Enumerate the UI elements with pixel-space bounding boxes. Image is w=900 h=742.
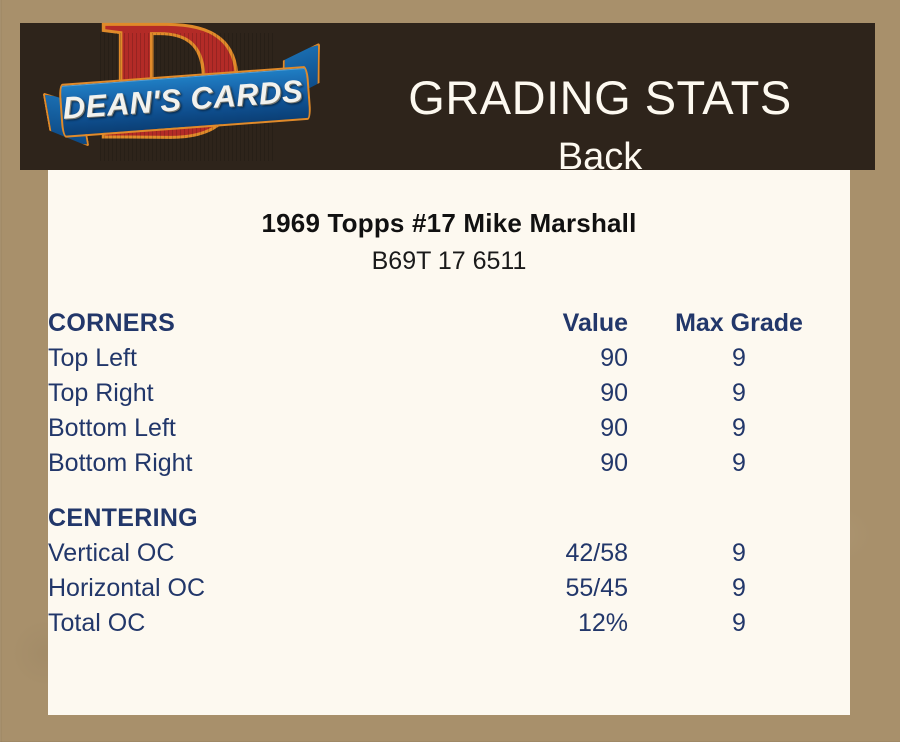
column-header-value: Value xyxy=(478,306,628,341)
row-label: Top Right xyxy=(48,376,478,411)
table-row: Bottom Right909 xyxy=(48,446,850,481)
row-label: Top Left xyxy=(48,341,478,376)
row-max-grade: 9 xyxy=(628,376,850,411)
row-label: Total OC xyxy=(48,606,478,641)
row-value: 12% xyxy=(478,606,628,641)
column-header-value xyxy=(478,501,628,536)
row-label: Bottom Left xyxy=(48,411,478,446)
row-value: 90 xyxy=(478,341,628,376)
logo-ribbon: DEAN'S CARDS xyxy=(50,63,316,140)
table-row: Top Right909 xyxy=(48,376,850,411)
page-title: GRADING STATS xyxy=(320,71,880,125)
section-spacer-cell xyxy=(48,481,850,501)
row-max-grade: 9 xyxy=(628,341,850,376)
grading-stats-body: CORNERSValueMax GradeTop Left909Top Righ… xyxy=(48,306,850,641)
deans-cards-logo[interactable]: D DEAN'S CARDS xyxy=(50,31,315,163)
row-value: 42/58 xyxy=(478,536,628,571)
section-spacer xyxy=(48,481,850,501)
grading-stats-table: CORNERSValueMax GradeTop Left909Top Righ… xyxy=(48,306,850,641)
table-row: Vertical OC42/589 xyxy=(48,536,850,571)
content-panel: 1969 Topps #17 Mike Marshall B69T 17 651… xyxy=(48,170,850,715)
row-max-grade: 9 xyxy=(628,606,850,641)
row-label: Horizontal OC xyxy=(48,571,478,606)
section-header-row: CORNERSValueMax Grade xyxy=(48,306,850,341)
column-header-max-grade xyxy=(628,501,850,536)
table-row: Bottom Left909 xyxy=(48,411,850,446)
row-max-grade: 9 xyxy=(628,411,850,446)
row-max-grade: 9 xyxy=(628,571,850,606)
logo-wordmark: DEAN'S CARDS xyxy=(50,63,315,136)
row-value: 90 xyxy=(478,411,628,446)
header-bar: D DEAN'S CARDS GRADING STATS Back xyxy=(20,23,875,170)
section-title: CORNERS xyxy=(48,306,478,341)
row-value: 90 xyxy=(478,446,628,481)
card-code: B69T 17 6511 xyxy=(48,247,850,276)
row-label: Vertical OC xyxy=(48,536,478,571)
column-header-max-grade: Max Grade xyxy=(628,306,850,341)
section-header-row: CENTERING xyxy=(48,501,850,536)
row-value: 90 xyxy=(478,376,628,411)
row-max-grade: 9 xyxy=(628,446,850,481)
table-row: Top Left909 xyxy=(48,341,850,376)
table-row: Total OC12%9 xyxy=(48,606,850,641)
row-value: 55/45 xyxy=(478,571,628,606)
table-row: Horizontal OC55/459 xyxy=(48,571,850,606)
row-max-grade: 9 xyxy=(628,536,850,571)
card-title: 1969 Topps #17 Mike Marshall xyxy=(48,208,850,239)
section-title: CENTERING xyxy=(48,501,478,536)
row-label: Bottom Right xyxy=(48,446,478,481)
